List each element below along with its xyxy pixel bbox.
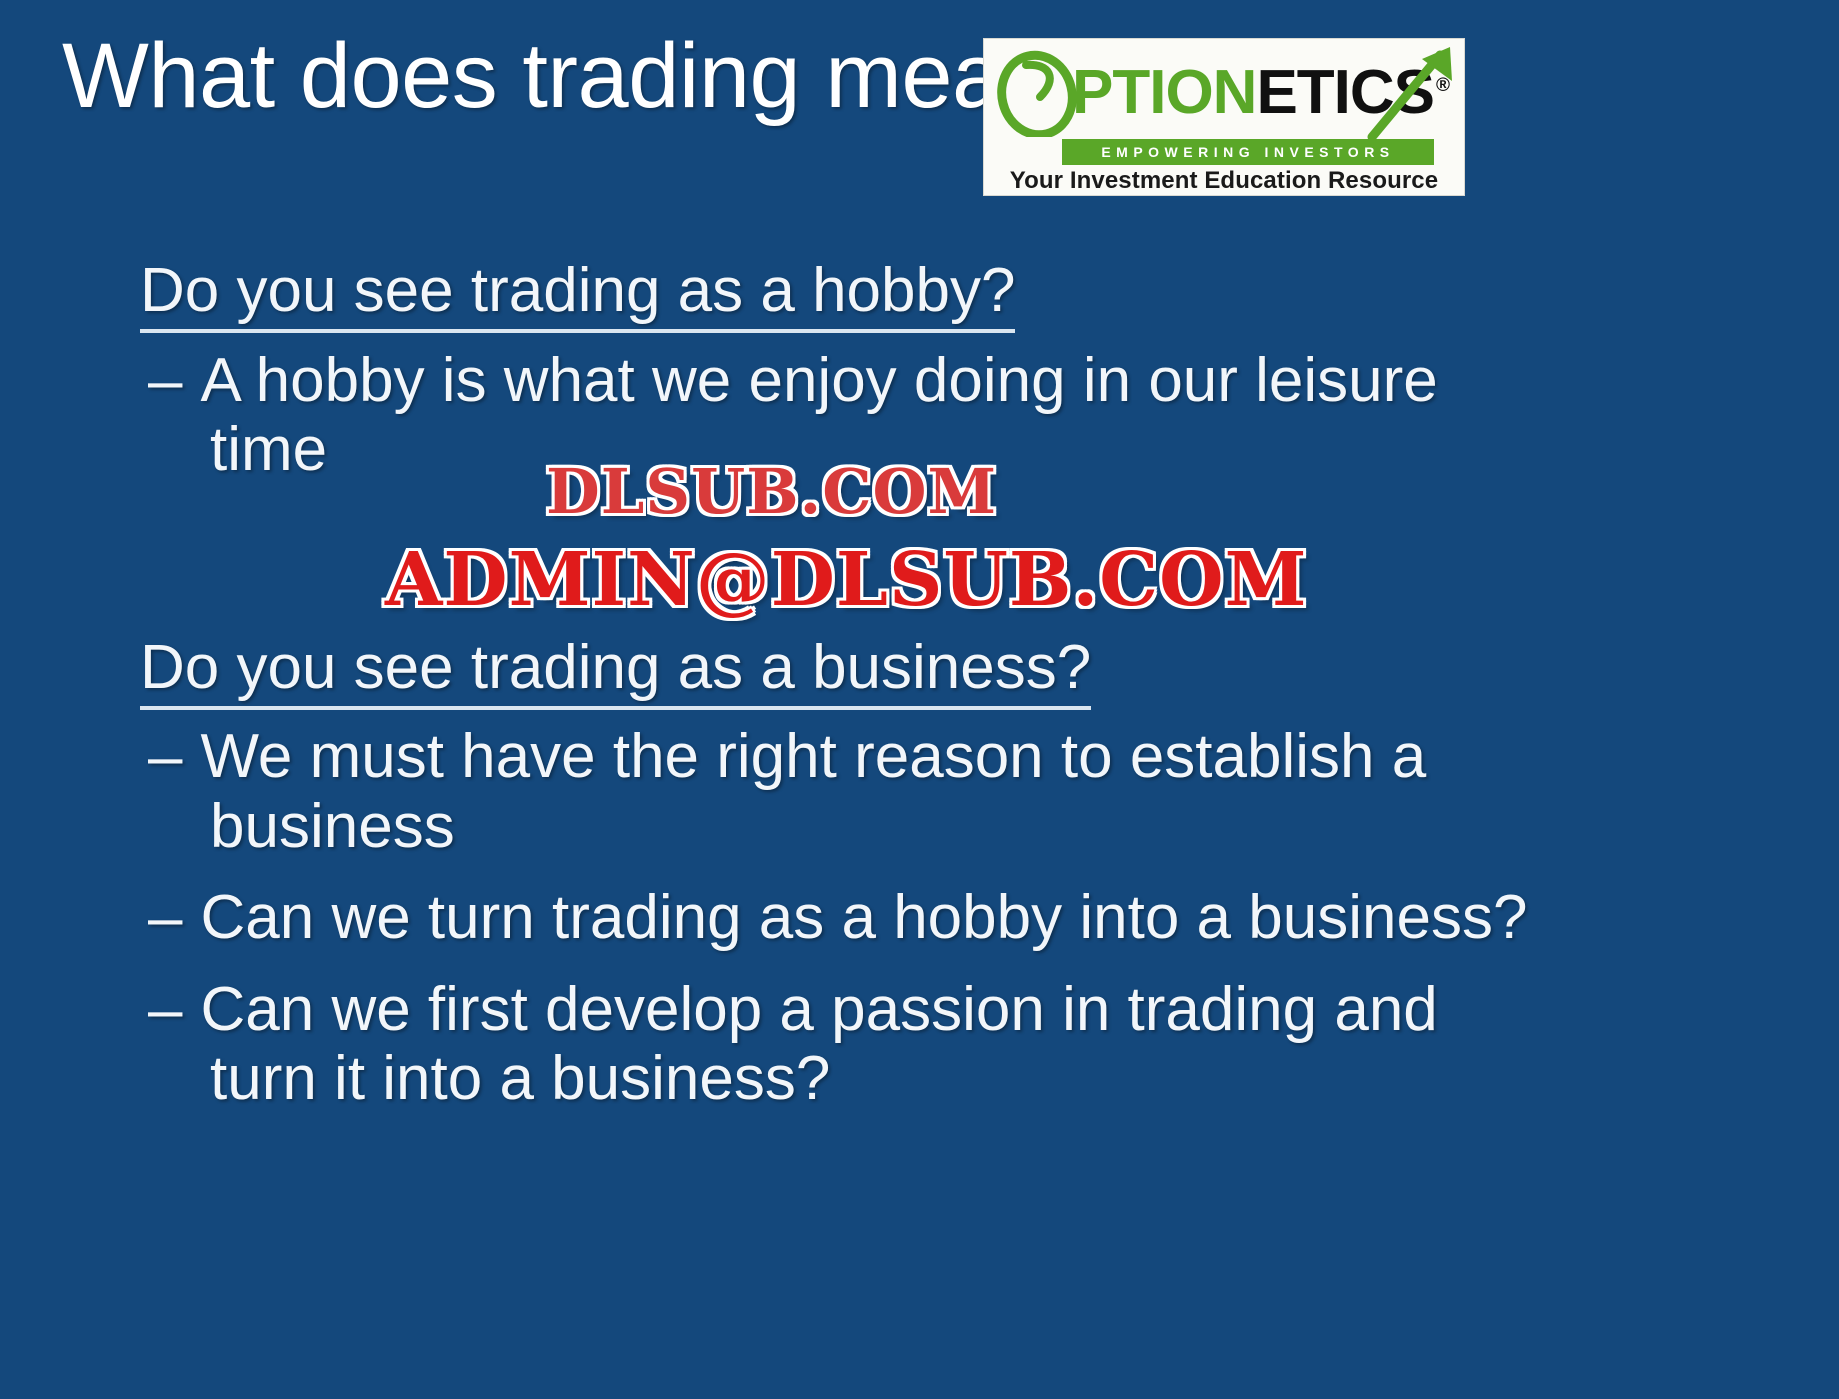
section-spacer	[140, 485, 1560, 635]
section-heading-hobby-text: Do you see trading as a hobby?	[140, 256, 1015, 333]
logo-banner: EMPOWERING INVESTORS	[1062, 139, 1434, 165]
section-heading-business: Do you see trading as a business?	[140, 635, 1560, 701]
bullet-hobby-definition: –A hobby is what we enjoy doing in our l…	[148, 346, 1560, 485]
leaf-oval-icon	[996, 49, 1078, 137]
section-heading-hobby: Do you see trading as a hobby?	[140, 258, 1560, 324]
bullet-business-reason: –We must have the right reason to establ…	[148, 722, 1560, 861]
bullet-hobby-into-business-text: Can we turn trading as a hobby into a bu…	[200, 883, 1527, 952]
logo-tagline: Your Investment Education Resource	[984, 167, 1464, 195]
slide-body: Do you see trading as a hobby? –A hobby …	[140, 258, 1560, 1114]
bullet-dash-icon: –	[148, 722, 182, 791]
section-heading-business-text: Do you see trading as a business?	[140, 633, 1091, 710]
presentation-slide: What does trading mean to you? PTIONETIC…	[0, 0, 1839, 1399]
bullet-business-reason-text: We must have the right reason to establi…	[200, 722, 1426, 860]
bullet-passion-into-business-text: Can we first develop a passion in tradin…	[200, 975, 1437, 1113]
up-arrow-icon	[1366, 45, 1458, 141]
bullet-dash-icon: –	[148, 883, 182, 952]
bullet-hobby-definition-text: A hobby is what we enjoy doing in our le…	[200, 346, 1437, 484]
bullet-dash-icon: –	[148, 346, 182, 415]
bullet-dash-icon: –	[148, 975, 182, 1044]
bullet-passion-into-business: –Can we first develop a passion in tradi…	[148, 975, 1560, 1114]
bullet-hobby-into-business: –Can we turn trading as a hobby into a b…	[148, 883, 1560, 952]
logo-text-green: PTION	[1072, 58, 1256, 127]
optionetics-logo: PTIONETICS® EMPOWERING INVESTORS Your In…	[983, 38, 1465, 196]
